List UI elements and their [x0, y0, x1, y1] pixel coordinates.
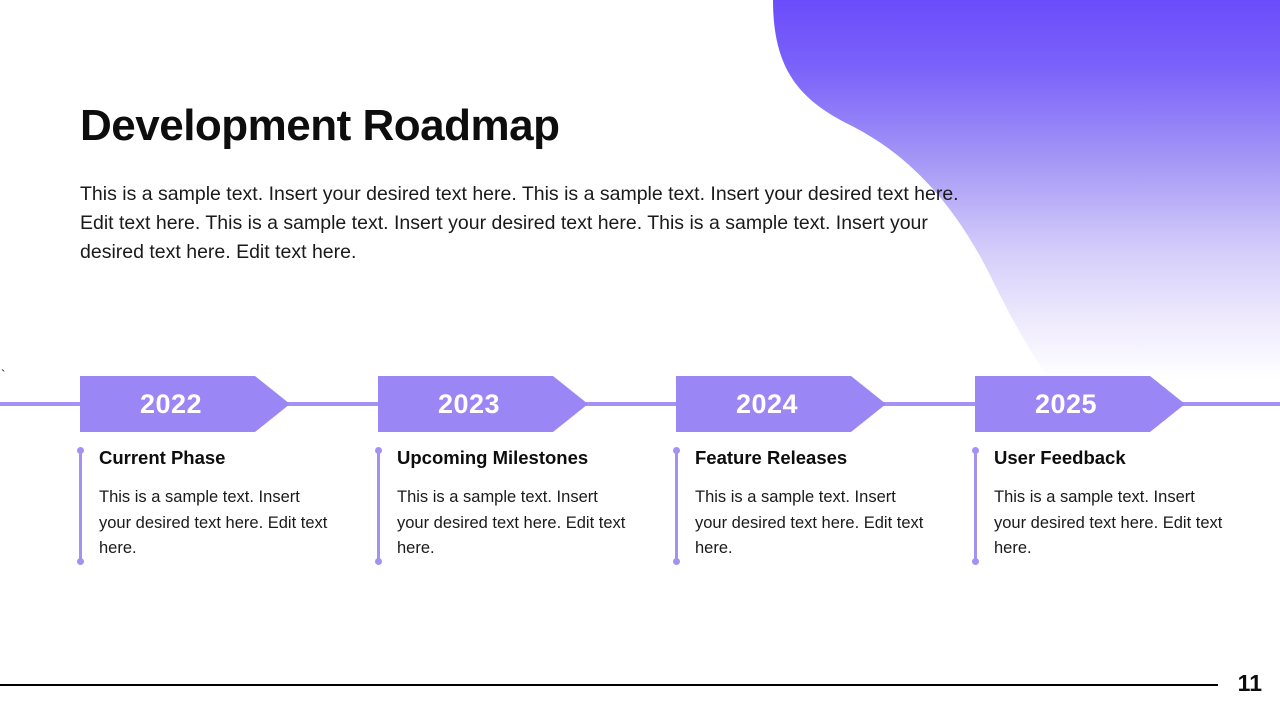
- phase-title: Current Phase: [99, 447, 331, 469]
- phase-body: Current Phase This is a sample text. Ins…: [99, 447, 331, 562]
- slide-subtitle: This is a sample text. Insert your desir…: [80, 180, 960, 267]
- phase-dot-top: [673, 447, 680, 454]
- timeline: ` 2022 2023 2024 2025: [0, 376, 1280, 434]
- page-title: Development Roadmap: [80, 101, 559, 151]
- page-number: 11: [1238, 670, 1262, 697]
- phase-connector-line: [79, 450, 82, 562]
- timeline-arrow-2022[interactable]: 2022: [80, 376, 290, 432]
- stray-backtick-mark: `: [1, 368, 5, 381]
- phase-connector-line: [974, 450, 977, 562]
- phase-dot-bottom: [673, 558, 680, 565]
- phase-body: Upcoming Milestones This is a sample tex…: [397, 447, 629, 562]
- timeline-arrow-label: 2024: [736, 389, 798, 420]
- phase-dot-top: [77, 447, 84, 454]
- phase-body: User Feedback This is a sample text. Ins…: [994, 447, 1226, 562]
- phase-connector-line: [377, 450, 380, 562]
- timeline-arrow-label: 2025: [1035, 389, 1097, 420]
- phase-list: Current Phase This is a sample text. Ins…: [0, 447, 1280, 597]
- timeline-arrow-2024[interactable]: 2024: [676, 376, 886, 432]
- timeline-arrow-label: 2023: [438, 389, 500, 420]
- footer-divider: [0, 684, 1218, 686]
- timeline-arrow-2023[interactable]: 2023: [378, 376, 588, 432]
- phase-description: This is a sample text. Insert your desir…: [695, 469, 927, 562]
- phase-dot-bottom: [77, 558, 84, 565]
- phase-dot-top: [375, 447, 382, 454]
- phase-description: This is a sample text. Insert your desir…: [397, 469, 629, 562]
- phase-title: Upcoming Milestones: [397, 447, 629, 469]
- phase-title: User Feedback: [994, 447, 1226, 469]
- phase-dot-top: [972, 447, 979, 454]
- phase-body: Feature Releases This is a sample text. …: [695, 447, 927, 562]
- phase-description: This is a sample text. Insert your desir…: [99, 469, 331, 562]
- phase-description: This is a sample text. Insert your desir…: [994, 469, 1226, 562]
- phase-dot-bottom: [972, 558, 979, 565]
- timeline-arrow-2025[interactable]: 2025: [975, 376, 1185, 432]
- phase-connector-line: [675, 450, 678, 562]
- phase-title: Feature Releases: [695, 447, 927, 469]
- timeline-arrow-label: 2022: [140, 389, 202, 420]
- phase-dot-bottom: [375, 558, 382, 565]
